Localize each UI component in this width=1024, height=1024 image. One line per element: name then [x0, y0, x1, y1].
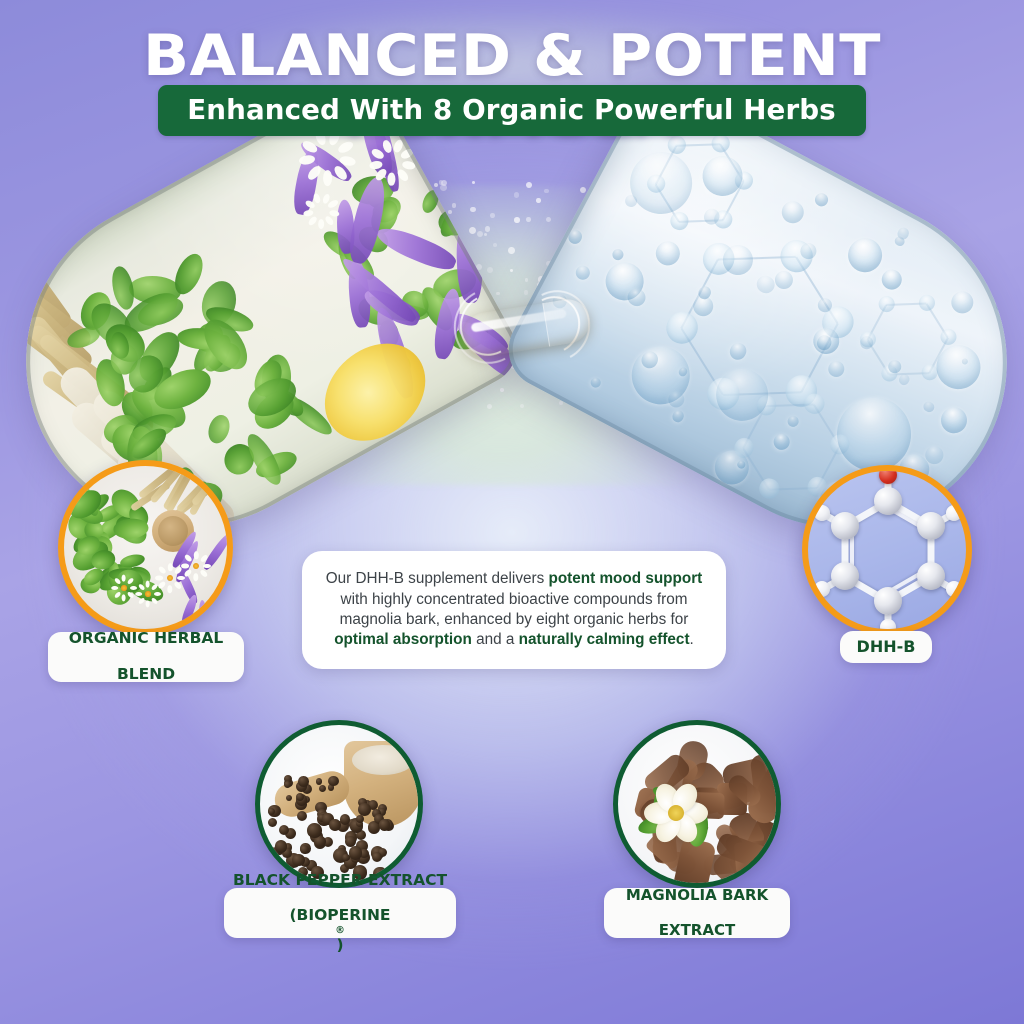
particle-dot: [484, 233, 487, 236]
peppercorn: [329, 819, 341, 831]
chamomile-petal: [158, 581, 167, 590]
carbon-atom: [917, 512, 945, 540]
particle-dot: [477, 231, 483, 237]
chamomile-petal: [203, 564, 211, 569]
water-bubble: [566, 228, 584, 246]
water-bubble: [842, 232, 888, 278]
chamomile-petal: [177, 576, 185, 581]
desc-part-4: .: [690, 631, 694, 648]
daisy-petal: [307, 215, 318, 227]
particle-dot: [508, 247, 514, 253]
particle-dot: [448, 210, 452, 214]
label-line-2: (BIOPERINE®): [233, 907, 447, 954]
callout-circle-organic-herbal-blend[interactable]: [58, 460, 233, 635]
water-bubble: [754, 273, 777, 296]
water-bubble: [771, 431, 793, 453]
peppercorn: [328, 776, 338, 786]
daisy-petal: [318, 219, 324, 230]
particle-dot: [544, 189, 548, 193]
label-magnolia-bark-extract: MAGNOLIA BARK EXTRACT: [604, 888, 790, 938]
particle-dot: [469, 227, 476, 234]
water-bubble: [652, 237, 684, 269]
label-organic-herbal-blend: ORGANIC HERBAL BLEND: [48, 632, 244, 682]
hydrogen-atom: [946, 505, 962, 521]
peppercorn: [298, 776, 309, 787]
particle-dot: [526, 217, 531, 222]
registered-trademark-symbol: ®: [233, 925, 447, 936]
chamomile-center: [167, 575, 173, 581]
desc-bold-3: naturally calming effect: [519, 631, 690, 648]
peppercorn: [372, 852, 382, 862]
chamomile-petal: [137, 597, 145, 605]
wooden-scoop: [271, 767, 353, 821]
label-line-2: BLEND: [69, 666, 224, 684]
peppercorn: [316, 778, 323, 785]
water-bubble: [778, 197, 808, 227]
chamomile-center: [121, 585, 126, 590]
daisy-petal: [322, 170, 332, 186]
particle-dot: [520, 404, 524, 408]
peppercorn: [284, 781, 291, 788]
label-line-2: EXTRACT: [626, 922, 768, 939]
callout-circle-magnolia-bark[interactable]: [613, 720, 781, 888]
chamomile-petal: [135, 592, 142, 596]
hydrogen-atom: [814, 581, 830, 597]
particle-dot: [487, 404, 492, 409]
water-bubble: [813, 191, 830, 208]
water-bubble: [727, 340, 749, 362]
particle-dot: [452, 203, 457, 208]
subtitle-text: Enhanced With 8 Organic Powerful Herbs: [188, 93, 836, 126]
water-bubble: [707, 360, 777, 430]
water-bubble: [622, 336, 700, 414]
label-black-pepper-extract: BLACK PEPPER EXTRACT (BIOPERINE®): [224, 888, 456, 938]
label-line-1: MAGNOLIA BARK: [626, 887, 768, 904]
particle-dot: [493, 243, 497, 247]
daisy-petal: [399, 148, 414, 161]
water-bubble: [589, 376, 603, 390]
white-pepper-powder: [352, 745, 414, 775]
carbon-atom: [831, 562, 859, 590]
label-dhh-b: DHH-B: [840, 631, 932, 663]
particle-dot: [472, 181, 475, 184]
peppercorn: [379, 819, 390, 830]
callout-circle-black-pepper[interactable]: [255, 720, 423, 888]
water-bubble: [825, 358, 847, 380]
particle-dot: [490, 213, 495, 218]
particle-dot: [434, 183, 438, 187]
magnolia-center: [668, 805, 684, 821]
carbon-atom: [831, 512, 859, 540]
callout-circle-dhh-b[interactable]: [802, 465, 972, 635]
particle-dot: [487, 267, 493, 273]
peppercorn: [268, 808, 275, 815]
lavender-sprig: [180, 593, 200, 626]
peppercorn: [279, 825, 289, 835]
chamomile-petal: [199, 569, 208, 578]
water-bubble: [878, 266, 905, 293]
description-box: Our DHH-B supplement delivers potent moo…: [302, 551, 726, 669]
peppercorn: [340, 814, 351, 825]
pill-cap-edge: [542, 296, 592, 346]
chamomile-petal: [194, 573, 199, 581]
particle-dot: [510, 269, 513, 272]
peppercorn: [307, 823, 322, 838]
molecule-atom: [756, 476, 782, 502]
peppercorn: [292, 854, 304, 866]
particle-dot: [500, 388, 504, 392]
water-bubble: [947, 287, 977, 317]
chamomile-petal: [194, 551, 199, 559]
particle-dot: [470, 207, 476, 213]
chamomile-petal: [168, 585, 173, 593]
desc-part-3: and a: [472, 631, 519, 648]
particle-dot: [536, 198, 540, 202]
desc-part-2: with highly concentrated bioactive compo…: [340, 591, 689, 628]
desc-bold-2: optimal absorption: [334, 631, 472, 648]
particle-dot: [559, 401, 563, 405]
water-bubble: [696, 149, 750, 203]
desc-part-1: Our DHH-B supplement delivers: [326, 570, 549, 587]
water-bubble: [610, 247, 625, 262]
subtitle-banner: Enhanced With 8 Organic Powerful Herbs: [158, 85, 865, 136]
particle-dot: [546, 217, 551, 222]
description-text: Our DHH-B supplement delivers potent moo…: [324, 569, 704, 650]
carbon-atom: [874, 487, 902, 515]
water-bubble: [922, 400, 936, 414]
water-bubble: [929, 337, 989, 397]
header: BALANCED & POTENT FORMULA Enhanced With …: [0, 0, 1024, 140]
water-bubble: [619, 141, 703, 225]
peppercorn: [275, 840, 287, 852]
subtitle-banner-wrap: Enhanced With 8 Organic Powerful Herbs: [0, 85, 1024, 136]
herb-leaf: [170, 249, 208, 297]
water-bubble: [786, 414, 801, 429]
peppercorn: [297, 811, 307, 821]
daisy-petal: [401, 161, 416, 171]
molecule-atom: [916, 292, 938, 314]
oxygen-atom: [879, 466, 897, 484]
particle-dot: [440, 184, 447, 191]
peppercorn: [349, 846, 362, 859]
chamomile-petal: [168, 563, 173, 571]
label-line-1: BLACK PEPPER EXTRACT: [233, 872, 447, 890]
particle-dot: [514, 217, 520, 223]
label-line-1: ORGANIC HERBAL: [69, 630, 224, 648]
daisy-petal: [313, 192, 322, 204]
chamomile-petal: [111, 586, 118, 590]
molecule-atom: [876, 293, 898, 315]
water-bubble: [993, 295, 1014, 316]
carbon-atom: [874, 587, 902, 615]
water-bubble: [671, 409, 686, 424]
hydrogen-atom: [946, 581, 962, 597]
label-line-1: DHH-B: [857, 638, 916, 657]
particle-dot: [526, 182, 532, 188]
chamomile-center: [193, 563, 199, 569]
chamomile-petal: [181, 564, 189, 569]
herb-leaf: [205, 412, 233, 446]
particle-dot: [580, 187, 586, 193]
particle-dot: [514, 192, 519, 197]
peppercorn: [268, 818, 277, 827]
daisy-petal: [324, 215, 335, 227]
water-bubble: [936, 403, 971, 438]
particle-dot: [485, 226, 491, 232]
chamomile-center: [145, 591, 150, 596]
chamomile-petal: [155, 576, 163, 581]
peppercorn: [356, 815, 364, 823]
chamomile-petal: [158, 566, 167, 575]
center-capsule: [452, 280, 602, 370]
desc-bold-1: potent mood support: [548, 570, 702, 587]
